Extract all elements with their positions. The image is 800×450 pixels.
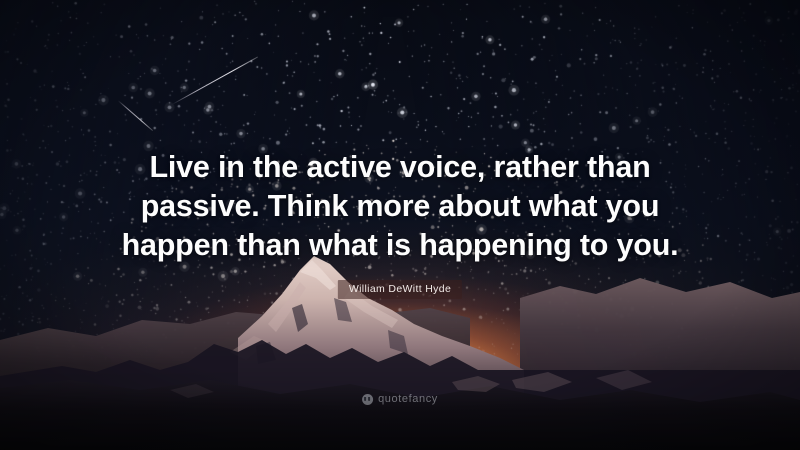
quotefancy-watermark: quotefancy — [362, 394, 438, 405]
author-attribution: William DeWitt Hyde — [338, 280, 462, 299]
night-sky-gradient — [0, 0, 800, 450]
watermark-label: quotefancy — [378, 394, 438, 405]
quote-poster: Live in the active voice, rather than pa… — [0, 0, 800, 450]
quotefancy-logo-icon — [362, 394, 373, 405]
